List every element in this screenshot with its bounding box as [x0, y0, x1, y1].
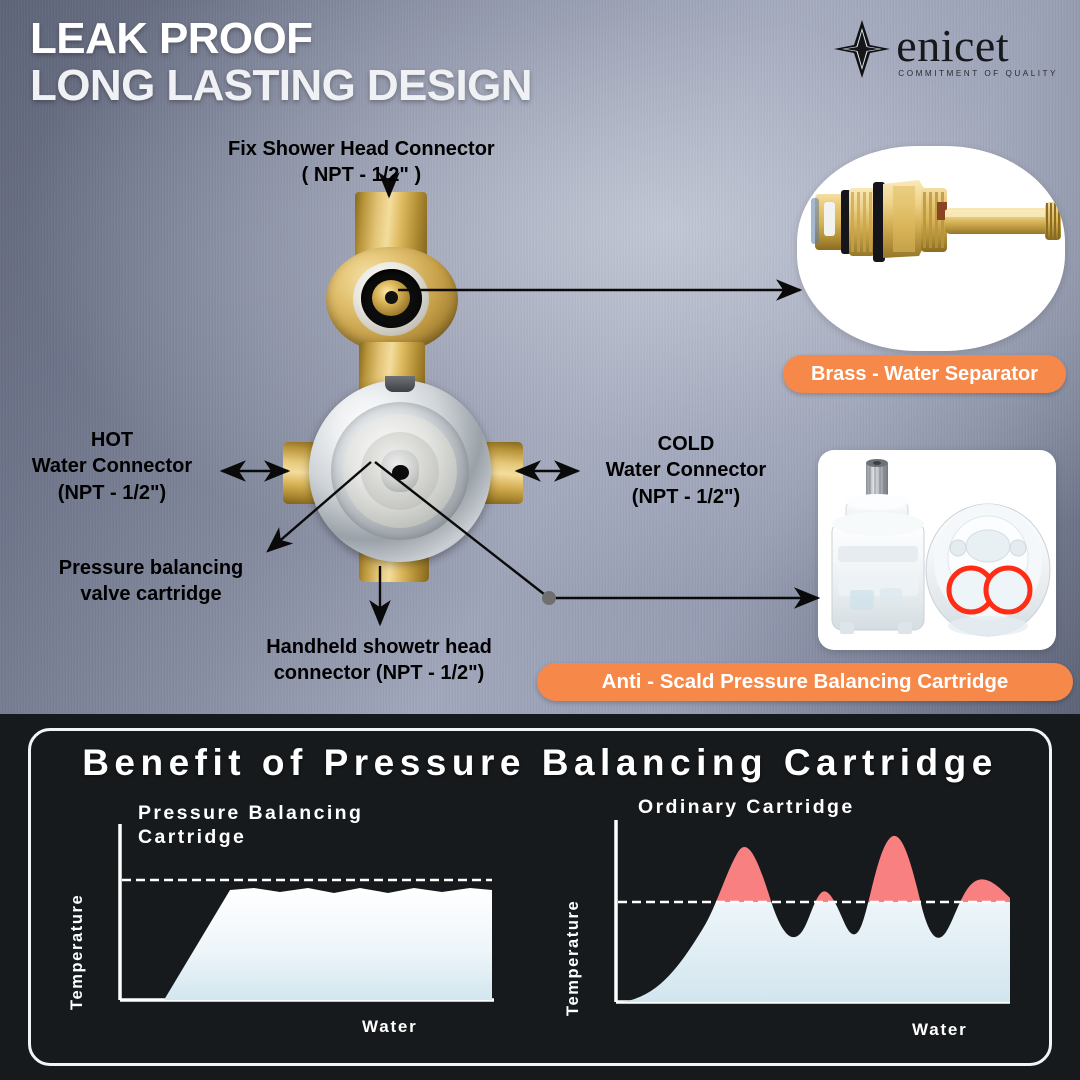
product-overview-panel: LEAK PROOF LONG LASTING DESIGN enicet CO…	[0, 0, 1080, 714]
chart-left-y-axis-label: Temperature	[68, 830, 87, 1010]
callout-line: connector (NPT - 1/2")	[245, 660, 513, 686]
callout-line: Water Connector	[12, 453, 212, 479]
benefit-chart-panel: Benefit of Pressure Balancing Cartridge …	[0, 714, 1080, 1080]
chart-left-area	[122, 888, 492, 1000]
headline-line-1: LEAK PROOF	[30, 16, 532, 63]
callout-line: valve cartridge	[35, 581, 267, 607]
callout-line: COLD	[586, 431, 786, 457]
valve-chrome-notch	[385, 376, 415, 392]
callout-fix-shower-head: Fix Shower Head Connector ( NPT - 1/2" )	[228, 136, 495, 189]
callout-cold-water: COLD Water Connector (NPT - 1/2")	[586, 431, 786, 510]
headline-line-2: LONG LASTING DESIGN	[30, 63, 532, 110]
brand-logo: enicet COMMITMENT OF QUALITY	[832, 18, 1058, 85]
chart-left-x-axis-label: Water	[362, 1017, 418, 1037]
brass-separator-art	[797, 146, 1065, 351]
callout-line: (NPT - 1/2")	[586, 484, 786, 510]
badge-anti-scald-cartridge: Anti - Scald Pressure Balancing Cartridg…	[537, 663, 1073, 701]
headline: LEAK PROOF LONG LASTING DESIGN	[30, 16, 532, 109]
shower-valve-body-photo	[283, 192, 523, 582]
chart-right-area	[618, 836, 1010, 1002]
logo-tagline: COMMITMENT OF QUALITY	[898, 69, 1058, 78]
chart-right-plot	[598, 812, 1018, 1024]
callout-handheld-shower: Handheld showetr head connector (NPT - 1…	[245, 634, 513, 687]
callout-line: (NPT - 1/2")	[12, 480, 212, 506]
callout-line: ( NPT - 1/2" )	[228, 162, 495, 188]
cartridge-art	[818, 450, 1056, 650]
callout-line: Pressure balancing	[35, 555, 267, 581]
anti-scald-cartridge-photo	[818, 450, 1056, 650]
valve-chrome-cap	[309, 380, 491, 562]
chart-right-y-axis-label: Temperature	[564, 836, 583, 1016]
brass-water-separator-photo	[797, 146, 1065, 351]
logo-text-block: enicet COMMITMENT OF QUALITY	[896, 25, 1058, 78]
callout-line: HOT	[12, 427, 212, 453]
chart-pressure-balancing-cartridge: Pressure Balancing Cartridge Temperature…	[62, 802, 522, 1052]
callout-line: Fix Shower Head Connector	[228, 136, 495, 162]
chart-left-plot	[102, 818, 502, 1018]
valve-boss-core	[372, 280, 410, 316]
logo-wordmark: enicet	[896, 25, 1009, 67]
callout-pressure-balancing-valve: Pressure balancing valve cartridge	[35, 555, 267, 608]
chart-ordinary-cartridge: Ordinary Cartridge Temperature Water	[560, 802, 1030, 1052]
leader-joint-dot	[542, 591, 556, 605]
valve-chrome-hub	[381, 450, 419, 492]
benefit-panel-title: Benefit of Pressure Balancing Cartridge	[0, 742, 1080, 784]
infographic-page: LEAK PROOF LONG LASTING DESIGN enicet CO…	[0, 0, 1080, 1080]
badge-brass-water-separator: Brass - Water Separator	[783, 355, 1066, 393]
callout-line: Handheld showetr head	[245, 634, 513, 660]
four-point-star-icon	[832, 18, 892, 85]
callout-hot-water: HOT Water Connector (NPT - 1/2")	[12, 427, 212, 506]
callout-line: Water Connector	[586, 457, 786, 483]
